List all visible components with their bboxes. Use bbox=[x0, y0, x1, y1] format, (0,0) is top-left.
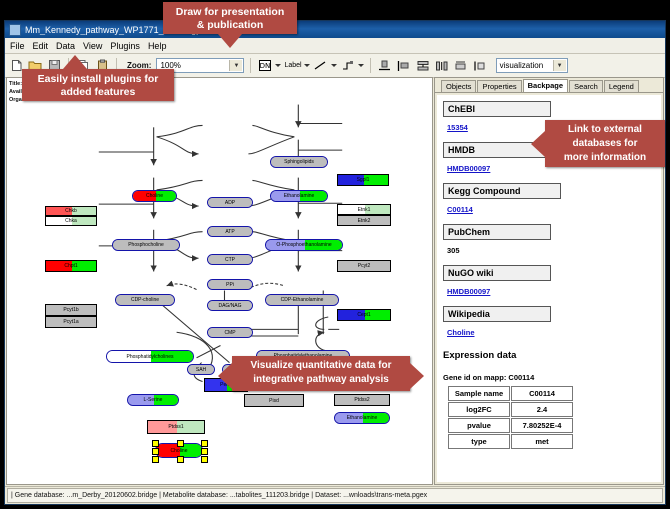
expr-key-sample: Sample name bbox=[448, 386, 510, 401]
status-bar-text: | Gene database: ...m_Derby_20120602.bri… bbox=[7, 488, 663, 503]
node-label: Ptdss2 bbox=[354, 397, 369, 403]
pathway-node-ethanolamine_top[interactable]: Ethanolamine bbox=[270, 190, 328, 202]
svg-text:DN: DN bbox=[260, 62, 271, 70]
table-row: type met bbox=[448, 434, 573, 449]
node-label: Chpt1 bbox=[64, 263, 77, 269]
node-label: ATP bbox=[225, 229, 234, 235]
menu-bar: File Edit Data View Plugins Help bbox=[5, 38, 665, 54]
node-label: Pcyt1a bbox=[63, 319, 78, 325]
node-label: Chka bbox=[65, 218, 77, 224]
node-label: Ethanolamine bbox=[284, 193, 315, 199]
callout-visualize-arrow-left-icon bbox=[218, 363, 232, 389]
expr-val-sample: C00114 bbox=[511, 386, 573, 401]
selection-handle[interactable] bbox=[152, 440, 159, 447]
pathway-node-sah[interactable]: SAH bbox=[187, 364, 215, 375]
datanode-icon[interactable]: DN bbox=[257, 58, 273, 74]
side-panel-tabs: Objects Properties Backpage Search Legen… bbox=[435, 78, 663, 93]
pathway-node-ophosphoethanolamine[interactable]: O-Phosphoethanolamine bbox=[265, 239, 343, 251]
callout-visualize-arrow-right-icon bbox=[410, 363, 424, 389]
line-tool[interactable] bbox=[313, 58, 337, 74]
expr-val-log2fc: 2.4 bbox=[511, 402, 573, 417]
pathway-node-pcyt2[interactable]: Pcyt2 bbox=[337, 260, 391, 272]
pathway-node-ethanolamine_right[interactable]: Ethanolamine bbox=[334, 412, 390, 424]
node-label: Etnk2 bbox=[358, 218, 371, 224]
expression-data-heading: Expression data bbox=[443, 350, 655, 361]
menu-item-edit[interactable]: Edit bbox=[33, 41, 49, 51]
pathway-node-chpt1[interactable]: Chpt1 bbox=[45, 260, 97, 272]
stack-vertical-icon[interactable] bbox=[415, 58, 431, 74]
node-label: SAH bbox=[196, 367, 206, 373]
pathway-node-sgpl1[interactable]: Sgpl1 bbox=[337, 174, 389, 186]
selection-handle[interactable] bbox=[152, 456, 159, 463]
datanode-tool[interactable]: DN bbox=[257, 58, 281, 74]
pathway-node-dagnag[interactable]: DAG/NAG bbox=[207, 300, 253, 311]
node-label: Etnk1 bbox=[358, 207, 371, 213]
pathway-node-pcyt1a[interactable]: Pcyt1a bbox=[45, 316, 97, 328]
node-label: Pcyt2 bbox=[358, 263, 371, 269]
pathway-node-etnk2[interactable]: Etnk2 bbox=[337, 215, 391, 226]
db-link-nugowiki[interactable]: HMDB00097 bbox=[447, 287, 490, 296]
canvas-info-title: Title: bbox=[9, 81, 22, 87]
anchor-line-icon[interactable] bbox=[340, 58, 356, 74]
callout-plugins-line1: Easily install plugins for bbox=[30, 73, 166, 86]
db-header-chebi: ChEBI bbox=[443, 101, 551, 117]
menu-item-data[interactable]: Data bbox=[56, 41, 75, 51]
pathway-node-sphingolipids[interactable]: Sphingolipids bbox=[270, 156, 328, 168]
distribute-horizontal-icon[interactable] bbox=[434, 58, 450, 74]
callout-link-arrow-icon bbox=[531, 131, 545, 157]
table-row: Sample name C00114 bbox=[448, 386, 573, 401]
table-row: pvalue 7.80252E-4 bbox=[448, 418, 573, 433]
selection-handle[interactable] bbox=[201, 456, 208, 463]
node-label: Cept1 bbox=[357, 312, 370, 318]
selection-handle[interactable] bbox=[177, 440, 184, 447]
callout-draw-line1: Draw for presentation bbox=[171, 6, 289, 19]
expr-val-pvalue: 7.80252E-4 bbox=[511, 418, 573, 433]
chevron-down-icon[interactable]: ▼ bbox=[229, 60, 242, 71]
align-left-icon[interactable] bbox=[396, 58, 412, 74]
line-icon[interactable] bbox=[313, 58, 329, 74]
callout-draw: Draw for presentation & publication bbox=[163, 2, 297, 34]
anchor-line-tool[interactable] bbox=[340, 58, 364, 74]
pathway-node-ptdss2[interactable]: Ptdss2 bbox=[334, 394, 390, 406]
callout-plugins-line2: added features bbox=[30, 86, 166, 99]
node-label: CDP-Ethanolamine bbox=[281, 297, 324, 303]
label-tool-label: Label bbox=[284, 62, 301, 69]
node-label: O-Phosphoethanolamine bbox=[276, 242, 331, 248]
toolbar-separator-3 bbox=[250, 58, 251, 73]
pathway-node-choline_top[interactable]: Choline bbox=[132, 190, 177, 202]
pathway-node-pisd[interactable]: Pisd bbox=[244, 394, 304, 407]
node-label: Ptdss1 bbox=[168, 424, 183, 430]
db-header-wikipedia: Wikipedia bbox=[443, 306, 551, 322]
callout-visualize: Visualize quantitative data for integrat… bbox=[232, 356, 410, 391]
callout-draw-line2: & publication bbox=[171, 19, 289, 32]
db-link-kegg[interactable]: C00114 bbox=[447, 205, 473, 214]
expr-key-log2fc: log2FC bbox=[448, 402, 510, 417]
callout-plugins: Easily install plugins for added feature… bbox=[22, 69, 174, 101]
node-label: CTP bbox=[225, 257, 235, 263]
expression-table: Sample name C00114 log2FC 2.4 pvalue 7.8… bbox=[447, 385, 574, 450]
pathway-node-ptdss1[interactable]: Ptdss1 bbox=[147, 420, 205, 434]
node-label: Ethanolamine bbox=[347, 415, 378, 421]
selection-handle[interactable] bbox=[201, 440, 208, 447]
pathway-node-phosphatidylcholines[interactable]: Phosphatidylcholines bbox=[106, 350, 194, 363]
visualization-combobox[interactable]: visualization ▼ bbox=[496, 58, 568, 73]
tab-search[interactable]: Search bbox=[569, 80, 603, 92]
gene-id-line: Gene id on mapp: C00114 bbox=[443, 373, 655, 382]
callout-draw-arrow-icon bbox=[218, 34, 242, 48]
node-label: Choline bbox=[171, 448, 188, 454]
tab-legend[interactable]: Legend bbox=[604, 80, 639, 92]
node-label: CDP-choline bbox=[131, 297, 159, 303]
label-tool[interactable]: Label bbox=[284, 62, 309, 69]
pathway-node-adp[interactable]: ADP bbox=[207, 197, 253, 208]
window-title-bar: Mm_Kennedy_pathway_WP1771_45176.gpml bbox=[5, 21, 665, 38]
tab-properties[interactable]: Properties bbox=[477, 80, 521, 92]
pathway-node-etnk1[interactable]: Etnk1 bbox=[337, 204, 391, 215]
selection-handle[interactable] bbox=[152, 448, 159, 455]
screenshot-root: Mm_Kennedy_pathway_WP1771_45176.gpml Fil… bbox=[0, 0, 670, 509]
table-row: log2FC 2.4 bbox=[448, 402, 573, 417]
node-label: ADP bbox=[225, 200, 235, 206]
pathway-node-cmp[interactable]: CMP bbox=[207, 327, 253, 338]
tab-backpage[interactable]: Backpage bbox=[523, 79, 568, 92]
node-label: PPi bbox=[226, 282, 234, 288]
pathway-node-cdp_ethanolamine[interactable]: CDP-Ethanolamine bbox=[265, 294, 339, 306]
pathway-node-cdp_choline[interactable]: CDP-choline bbox=[115, 294, 175, 306]
callout-plugins-arrow-icon bbox=[63, 55, 87, 69]
node-label: Choline bbox=[146, 193, 163, 199]
callout-link-line1: Link to external bbox=[553, 123, 657, 137]
chevron-down-icon[interactable] bbox=[304, 64, 310, 67]
callout-vis-line2: integrative pathway analysis bbox=[240, 373, 402, 387]
db-link-wikipedia[interactable]: Choline bbox=[447, 328, 475, 337]
align-bottom-icon[interactable] bbox=[377, 58, 393, 74]
app-icon bbox=[9, 24, 21, 36]
node-label: Phosphatidylcholines bbox=[127, 354, 174, 360]
menu-item-file[interactable]: File bbox=[10, 41, 25, 51]
chevron-down-icon[interactable] bbox=[275, 64, 281, 67]
pathway-node-ctp[interactable]: CTP bbox=[207, 254, 253, 265]
size-equal-icon[interactable] bbox=[453, 58, 469, 74]
pathway-node-phosphocholine[interactable]: Phosphocholine bbox=[112, 239, 180, 251]
db-link-chebi[interactable]: 15354 bbox=[447, 123, 468, 132]
db-link-hmdb[interactable]: HMDB00097 bbox=[447, 164, 490, 173]
tab-objects[interactable]: Objects bbox=[441, 80, 476, 92]
chevron-down-icon[interactable]: ▼ bbox=[553, 60, 566, 71]
node-label: DAG/NAG bbox=[218, 303, 241, 309]
menu-item-view[interactable]: View bbox=[83, 41, 102, 51]
bring-front-icon[interactable] bbox=[472, 58, 488, 74]
menu-item-plugins[interactable]: Plugins bbox=[110, 41, 140, 51]
callout-link-line3: more information bbox=[553, 151, 657, 165]
expr-key-pvalue: pvalue bbox=[448, 418, 510, 433]
callout-link-line2: databases for bbox=[553, 137, 657, 151]
pathway-canvas[interactable]: Title: Availa Organi bbox=[6, 77, 433, 485]
node-label: Pcyt1b bbox=[63, 307, 78, 313]
node-label: Sgpl1 bbox=[357, 177, 370, 183]
pathway-node-chkb[interactable]: Chkb bbox=[45, 206, 97, 216]
callout-vis-line1: Visualize quantitative data for bbox=[240, 359, 402, 373]
status-bar: | Gene database: ...m_Derby_20120602.bri… bbox=[5, 486, 665, 504]
pathway-node-lserine_left[interactable]: L-Serine bbox=[127, 394, 179, 406]
chevron-down-icon[interactable] bbox=[331, 64, 337, 67]
chevron-down-icon[interactable] bbox=[358, 64, 364, 67]
node-label: Phosphocholine bbox=[128, 242, 164, 248]
menu-item-help[interactable]: Help bbox=[148, 41, 167, 51]
pathway-node-pcyt1b[interactable]: Pcyt1b bbox=[45, 304, 97, 316]
pathway-node-cept1[interactable]: Cept1 bbox=[337, 309, 391, 321]
pathway-node-atp[interactable]: ATP bbox=[207, 226, 253, 237]
node-label: Sphingolipids bbox=[284, 159, 314, 165]
db-value-pubchem: 305 bbox=[447, 246, 460, 255]
node-label: L-Serine bbox=[144, 397, 163, 403]
callout-link: Link to external databases for more info… bbox=[545, 120, 665, 167]
visualization-value: visualization bbox=[500, 61, 544, 70]
pathway-node-chka[interactable]: Chka bbox=[45, 216, 97, 226]
selection-handle[interactable] bbox=[201, 448, 208, 455]
pathway-node-ppi[interactable]: PPi bbox=[207, 279, 253, 290]
node-label: Pisd bbox=[269, 398, 279, 404]
expr-val-type: met bbox=[511, 434, 573, 449]
toolbar-separator-4 bbox=[370, 58, 371, 73]
db-header-kegg: Kegg Compound bbox=[443, 183, 561, 199]
db-header-pubchem: PubChem bbox=[443, 224, 551, 240]
selection-handle[interactable] bbox=[177, 456, 184, 463]
node-label: Chkb bbox=[65, 208, 77, 214]
expr-key-type: type bbox=[448, 434, 510, 449]
node-label: CMP bbox=[224, 330, 235, 336]
db-header-nugowiki: NuGO wiki bbox=[443, 265, 551, 281]
